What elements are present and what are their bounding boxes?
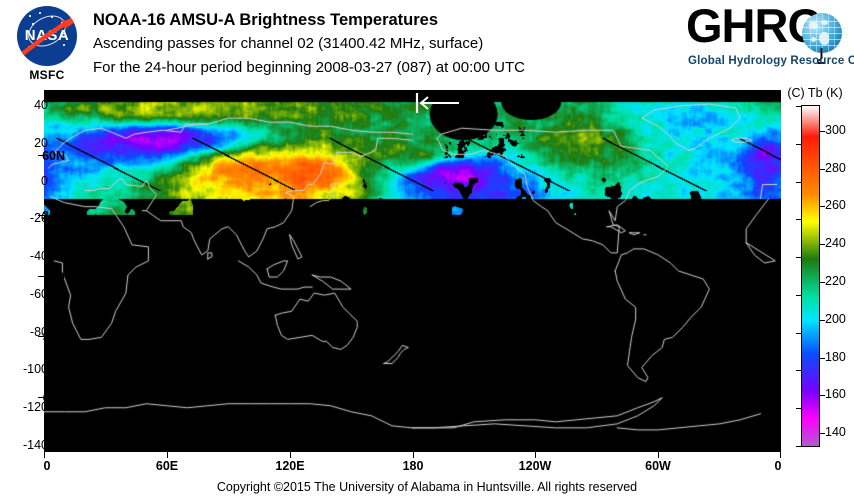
colorbar-label-k-180: 180 (825, 351, 846, 363)
text-cursor-icon (414, 92, 462, 114)
colorbar-label-c-40: 40 (34, 99, 48, 111)
colorbar-tick-c--80 (796, 333, 802, 334)
colorbar-tick-c--140 (796, 446, 802, 447)
msfc-label: MSFC (10, 68, 84, 82)
colorbar-label-k-220: 220 (825, 275, 846, 287)
y-tick-label-eq: EQ (47, 271, 65, 283)
colorbar-label-c--80: -80 (30, 326, 48, 338)
x-tick-label-0e: 0 (44, 460, 51, 472)
colorbar-tick-c--100 (796, 370, 802, 371)
colorbar (801, 105, 820, 447)
colorbar-tick-c-20 (796, 144, 802, 145)
nasa-red-chevron-icon (17, 12, 77, 62)
brightness-temperature-map (44, 90, 781, 452)
x-tick-label-60w: 60W (645, 460, 671, 472)
colorbar-label-c--120: -120 (23, 401, 48, 413)
colorbar-tick-c--60 (796, 295, 802, 296)
colorbar-label-k-280: 280 (825, 162, 846, 174)
copyright-notice: Copyright ©2015 The University of Alabam… (0, 480, 854, 494)
globe-icon (802, 13, 842, 53)
colorbar-tick-c--20 (796, 219, 802, 220)
colorbar-label-c-0: 0 (41, 175, 48, 187)
x-tick-label-120e: 120E (275, 460, 304, 472)
subtitle-period: For the 24-hour period beginning 2008-03… (93, 56, 673, 80)
colorbar-label-k-240: 240 (825, 237, 846, 249)
colorbar-tick-c--120 (796, 408, 802, 409)
ghrc-wordmark: GHRC (686, 1, 820, 51)
colorbar-label-k-140: 140 (825, 426, 846, 438)
x-tick-label-180: 180 (403, 460, 424, 472)
page-title: NOAA-16 AMSU-A Brightness Temperatures (93, 8, 673, 32)
colorbar-label-k-200: 200 (825, 313, 846, 325)
colorbar-tick-c-0 (796, 182, 802, 183)
colorbar-header: (C) Tb (K) (776, 86, 854, 100)
nasa-meatball-icon: NASA (17, 6, 77, 66)
colorbar-tick-c--40 (796, 257, 802, 258)
colorbar-label-k-160: 160 (825, 388, 846, 400)
colorbar-label-c--40: -40 (30, 250, 48, 262)
x-tick-label-60e: 60E (156, 460, 178, 472)
y-tick-label-60n: 60N (42, 150, 65, 162)
colorbar-label-k-300: 300 (825, 124, 846, 136)
colorbar-label-c--20: -20 (30, 212, 48, 224)
map-plot-area[interactable] (44, 90, 781, 452)
colorbar-label-c-20: 20 (34, 137, 48, 149)
nasa-logo: NASA MSFC (10, 6, 84, 82)
colorbar-label-c--140: -140 (23, 439, 48, 451)
colorbar-label-k-260: 260 (825, 199, 846, 211)
x-tick-label-0w: 0 (775, 460, 782, 472)
colorbar-label-c--60: -60 (30, 288, 48, 300)
colorbar-tick-c-40 (796, 106, 802, 107)
title-block: NOAA-16 AMSU-A Brightness Temperatures A… (93, 8, 673, 80)
colorbar-label-c--100: -100 (23, 363, 48, 375)
ghrc-logo: GHRC Global Hydrology Resource Center (686, 5, 848, 75)
ghrc-tagline: Global Hydrology Resource Center (688, 55, 854, 67)
x-tick-label-120w: 120W (519, 460, 552, 472)
subtitle-channel: Ascending passes for channel 02 (31400.4… (93, 32, 673, 56)
